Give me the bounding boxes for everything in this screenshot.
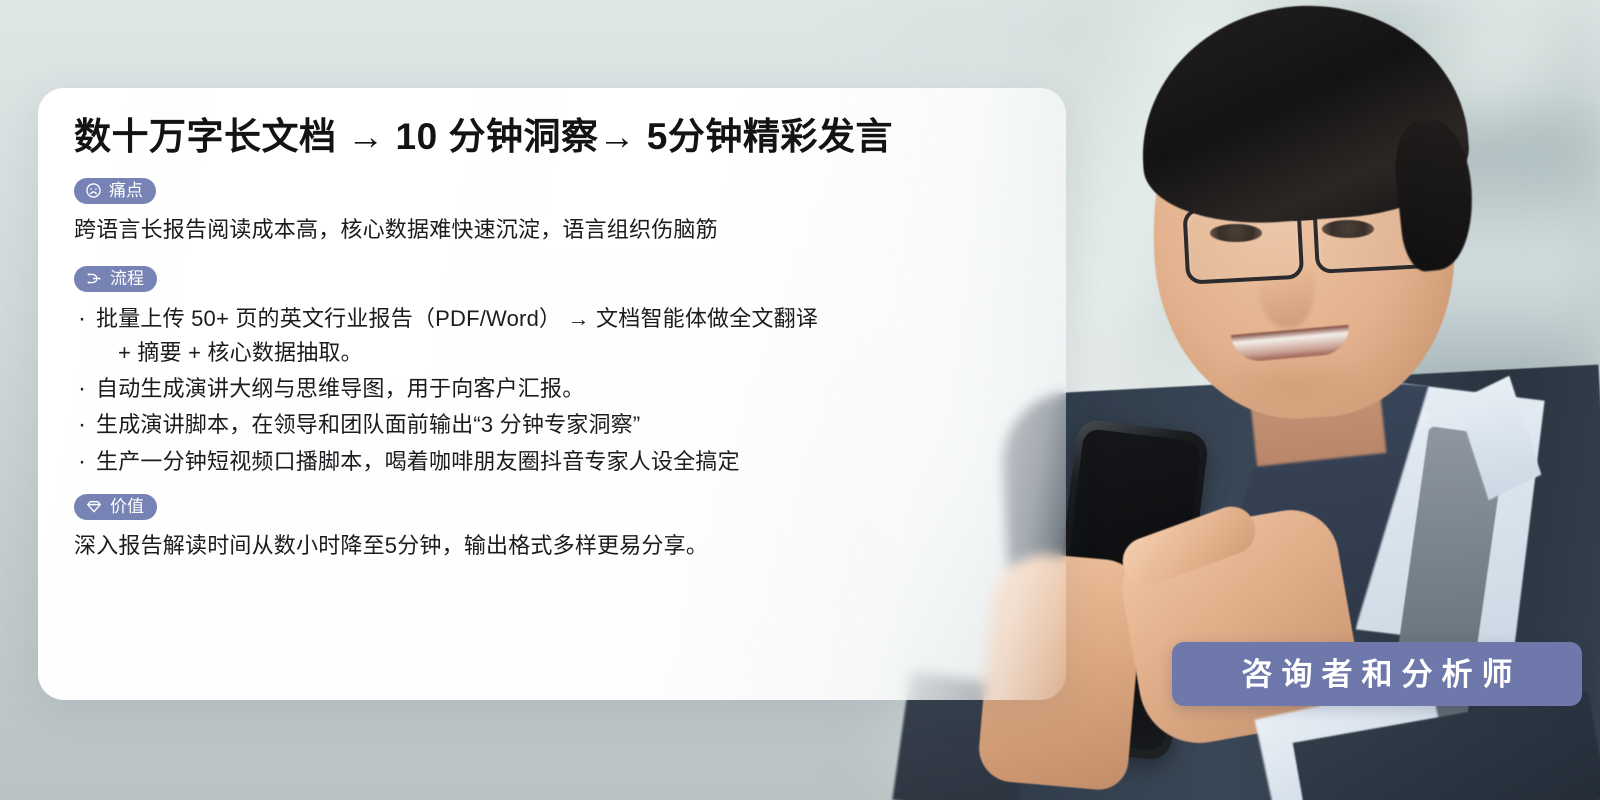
role-banner-label: 咨询者和分析师	[1233, 659, 1522, 690]
badge-flow-label: 流程	[110, 270, 144, 287]
diamond-icon	[85, 498, 103, 515]
list-item: 生成演讲脚本，在领导和团队面前输出“3 分钟专家洞察”	[74, 408, 1036, 441]
value-text: 深入报告解读时间从数小时降至5分钟，输出格式多样更易分享。	[74, 530, 1036, 562]
photo-chin-shadow	[1220, 352, 1370, 416]
slide-canvas: 数十万字长文档 → 10 分钟洞察→ 5分钟精彩发言 痛点 跨语言长报告阅读成本…	[0, 0, 1600, 800]
badge-value: 价值	[74, 494, 157, 520]
badge-flow: 流程	[74, 266, 157, 292]
sad-face-icon	[85, 182, 102, 199]
flow-bullet-2: 自动生成演讲大纲与思维导图，用于向客户汇报。	[96, 376, 584, 401]
content-card: 数十万字长文档 → 10 分钟洞察→ 5分钟精彩发言 痛点 跨语言长报告阅读成本…	[38, 88, 1066, 700]
badge-pain-point-label: 痛点	[109, 182, 143, 199]
list-item: 生产一分钟短视频口播脚本，喝着咖啡朋友圈抖音专家人设全搞定	[74, 445, 1036, 478]
flow-nodes-icon	[85, 270, 103, 287]
badge-pain-point: 痛点	[74, 178, 156, 204]
flow-bullet-list: 批量上传 50+ 页的英文行业报告（PDF/Word） → 文档智能体做全文翻译…	[74, 302, 1036, 478]
section-pain-point: 痛点 跨语言长报告阅读成本高，核心数据难快速沉淀，语言组织伤脑筋	[74, 178, 1036, 246]
pain-point-text: 跨语言长报告阅读成本高，核心数据难快速沉淀，语言组织伤脑筋	[74, 214, 1036, 246]
role-banner: 咨询者和分析师	[1172, 642, 1582, 706]
flow-bullet-1-line1: 批量上传 50+ 页的英文行业报告（PDF/Word） → 文档智能体做全文翻译	[96, 306, 818, 331]
flow-bullet-4: 生产一分钟短视频口播脚本，喝着咖啡朋友圈抖音专家人设全搞定	[96, 449, 740, 474]
badge-value-label: 价值	[110, 498, 144, 515]
flow-bullet-3: 生成演讲脚本，在领导和团队面前输出“3 分钟专家洞察”	[96, 412, 640, 437]
list-item: 批量上传 50+ 页的英文行业报告（PDF/Word） → 文档智能体做全文翻译…	[74, 302, 1036, 369]
section-flow: 流程 批量上传 50+ 页的英文行业报告（PDF/Word） → 文档智能体做全…	[74, 266, 1036, 478]
section-value: 价值 深入报告解读时间从数小时降至5分钟，输出格式多样更易分享。	[74, 494, 1036, 562]
list-item: 自动生成演讲大纲与思维导图，用于向客户汇报。	[74, 372, 1036, 405]
flow-bullet-1-line2: + 摘要 + 核心数据抽取。	[96, 336, 1036, 369]
page-title: 数十万字长文档 → 10 分钟洞察→ 5分钟精彩发言	[74, 114, 1036, 160]
content-card-inner: 数十万字长文档 → 10 分钟洞察→ 5分钟精彩发言 痛点 跨语言长报告阅读成本…	[74, 114, 1036, 582]
